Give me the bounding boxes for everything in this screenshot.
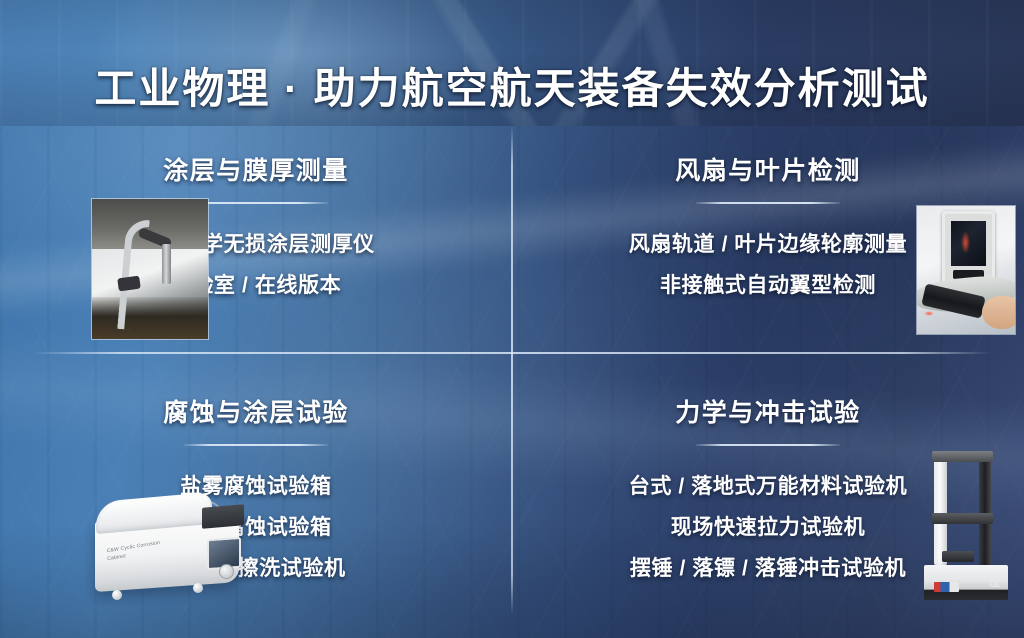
- heading-underline: [184, 444, 328, 446]
- utm-top-crosshead: [932, 451, 992, 462]
- poster-canvas: 工业物理 · 助力航空航天装备失效分析测试 涂层与膜厚测量 微米光学无损涂层测厚…: [0, 0, 1024, 638]
- heading-underline: [696, 444, 840, 446]
- universal-testing-machine-photo: CE: [924, 448, 1008, 600]
- quadrant-heading: 风扇与叶片检测: [512, 158, 1024, 186]
- cabinet-caster: [193, 583, 203, 593]
- quadrant-heading: 腐蚀与涂层试验: [0, 400, 512, 428]
- utm-column-left: [934, 453, 947, 565]
- quadrant-text-block: 涂层与膜厚测量 微米光学无损涂层测厚仪 实验室 / 在线版本: [0, 158, 512, 306]
- list-item: 微米光学无损涂层测厚仪: [0, 224, 512, 265]
- photo-machine-top: [92, 199, 208, 249]
- quadrant-coating-film-thickness: 涂层与膜厚测量 微米光学无损涂层测厚仪 实验室 / 在线版本: [0, 126, 512, 352]
- cyclic-corrosion-cabinet-photo: C&W Cyclic Corrosion Cabinet: [84, 484, 260, 606]
- list-item: 实验室 / 在线版本: [0, 265, 512, 306]
- cabinet-caster: [112, 590, 122, 600]
- utm-crosshead: [932, 513, 992, 524]
- laser-spot-icon: [924, 311, 934, 316]
- quadrant-heading: 力学与冲击试验: [512, 400, 1024, 428]
- page-title: 工业物理 · 助力航空航天装备失效分析测试: [0, 68, 1024, 110]
- heading-underline: [696, 202, 840, 204]
- utm-ce-mark: CE: [989, 580, 1000, 589]
- quadrant-heading: 涂层与膜厚测量: [0, 158, 512, 186]
- probe-tip-icon: [162, 244, 171, 284]
- photo-machine-base: [92, 297, 208, 339]
- monitor-icon: [942, 211, 994, 284]
- handheld-blade-scanner-photo: [917, 206, 1015, 334]
- monitor-screen: [951, 221, 986, 266]
- cabinet-dial-icon: [219, 564, 234, 579]
- operator-hand: [982, 296, 1015, 329]
- utm-lower-grip: [942, 551, 974, 562]
- quadrant-item-list: 微米光学无损涂层测厚仪 实验室 / 在线版本: [0, 224, 512, 306]
- coating-thickness-probe-photo: [92, 199, 208, 339]
- cabinet-control-panel: [202, 504, 244, 528]
- utm-brand-badge: [934, 582, 959, 593]
- utm-column-right: [979, 453, 992, 565]
